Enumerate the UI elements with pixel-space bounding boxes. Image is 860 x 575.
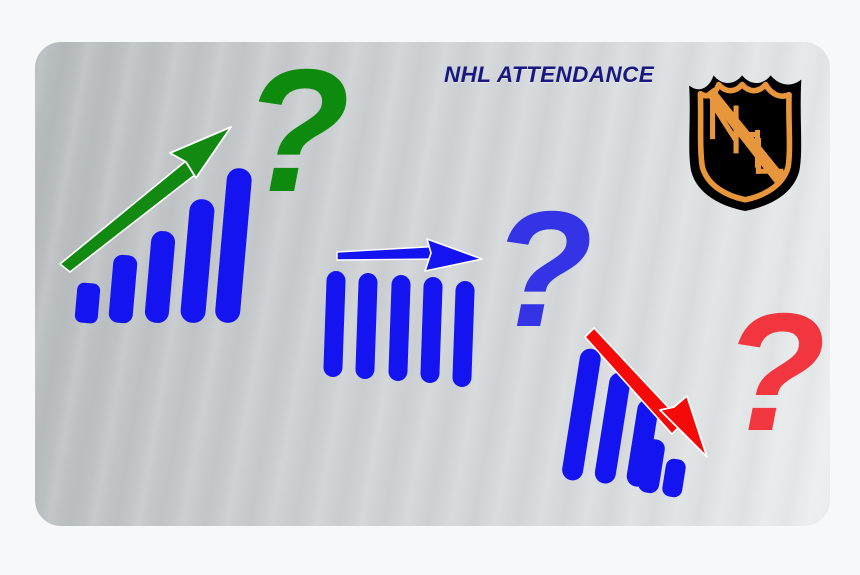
question-mark-flat: ? [492, 187, 593, 352]
nhl-attendance-infographic-card [35, 42, 830, 526]
infographic-canvas: ? ? ? NHL ATTENDANCE [0, 0, 860, 575]
page-title: NHL ATTENDANCE [444, 62, 654, 88]
question-mark-falling: ? [723, 288, 826, 456]
question-mark-rising: ? [243, 44, 350, 219]
card-surface [35, 42, 830, 526]
